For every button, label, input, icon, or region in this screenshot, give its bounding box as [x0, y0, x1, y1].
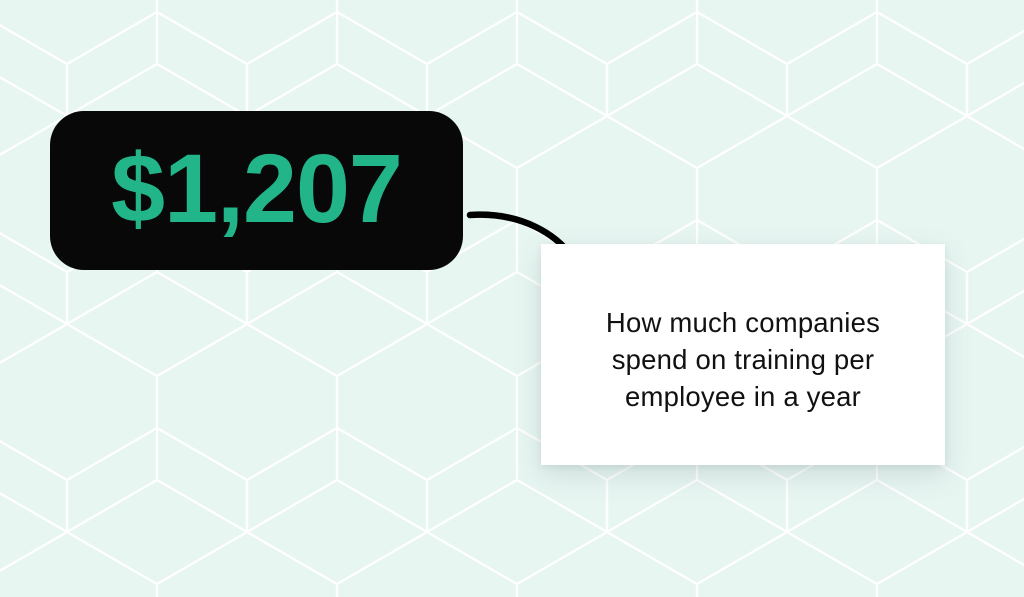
stat-value-text: $1,207: [111, 140, 402, 237]
caption-card: How much companies spend on training per…: [541, 244, 945, 465]
infographic-canvas: $1,207 How much companies spend on train…: [0, 0, 1024, 597]
caption-line-2: spend on training per: [612, 341, 875, 378]
caption-line-3: employee in a year: [625, 378, 861, 415]
stat-value-badge: $1,207: [50, 111, 463, 270]
caption-line-1: How much companies: [606, 304, 880, 341]
